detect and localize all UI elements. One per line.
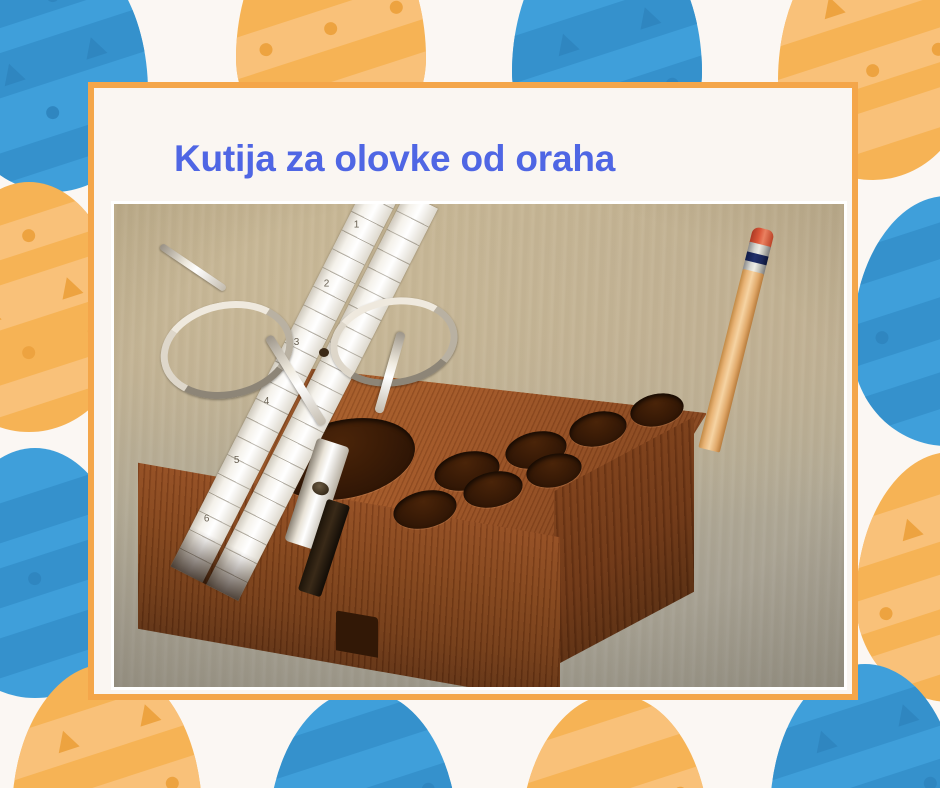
egg-triangle bbox=[892, 700, 919, 726]
egg-dot bbox=[878, 605, 894, 621]
photo-vignette bbox=[114, 204, 844, 687]
egg-dot bbox=[21, 344, 37, 360]
egg-dot bbox=[45, 0, 61, 3]
egg-dot bbox=[27, 570, 43, 586]
egg-dot bbox=[258, 41, 274, 57]
egg-triangle bbox=[134, 700, 161, 726]
egg-triangle bbox=[811, 727, 838, 753]
egg-dot bbox=[323, 20, 339, 36]
content-card: Kutija za olovke od oraha bbox=[88, 82, 858, 700]
egg-dot bbox=[388, 0, 404, 15]
egg-triangle bbox=[80, 33, 107, 59]
photo-frame: 1 2 3 4 5 6 bbox=[111, 201, 847, 690]
egg-triangle bbox=[819, 0, 846, 19]
egg-stripe bbox=[852, 196, 940, 308]
egg-triangle bbox=[53, 727, 80, 753]
egg-triangle bbox=[634, 3, 661, 29]
egg-dot bbox=[930, 41, 940, 57]
egg-triangle bbox=[0, 300, 2, 326]
egg-dot bbox=[922, 775, 938, 788]
egg-triangle bbox=[897, 515, 924, 541]
card-inner: Kutija za olovke od oraha bbox=[102, 96, 844, 686]
easter-egg-orange bbox=[520, 694, 710, 788]
egg-dot bbox=[420, 781, 436, 788]
egg-dot bbox=[874, 329, 890, 345]
egg-triangle bbox=[553, 30, 580, 56]
product-photo: 1 2 3 4 5 6 bbox=[114, 204, 844, 687]
egg-dot bbox=[45, 104, 61, 120]
egg-dot bbox=[164, 775, 180, 788]
easter-egg-blue bbox=[268, 690, 458, 788]
egg-triangle bbox=[56, 273, 83, 299]
egg-triangle bbox=[0, 60, 26, 86]
page-title: Kutija za olovke od oraha bbox=[174, 138, 615, 180]
egg-dot bbox=[865, 62, 881, 78]
egg-dot bbox=[21, 226, 37, 242]
page-root: Kutija za olovke od oraha bbox=[0, 0, 940, 788]
easter-egg-blue bbox=[852, 196, 940, 446]
